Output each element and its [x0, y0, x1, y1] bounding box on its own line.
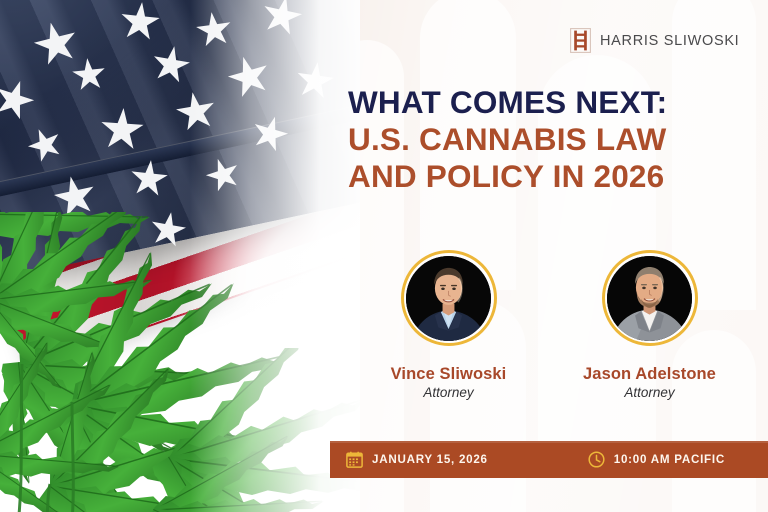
speaker-card-vince-sliwoski: Vince Sliwoski Attorney	[363, 250, 535, 400]
brand-logo: HARRIS SLIWOSKI	[570, 28, 739, 53]
speaker-role: Attorney	[363, 385, 535, 400]
event-date: JANUARY 15, 2026	[346, 451, 488, 468]
calendar-icon	[346, 451, 363, 468]
brand-logo-text: HARRIS SLIWOSKI	[600, 33, 739, 49]
webinar-promo-banner: HARRIS SLIWOSKI WHAT COMES NEXT: U.S. CA…	[0, 0, 768, 512]
avatar	[401, 250, 497, 346]
avatar	[602, 250, 698, 346]
title-line-3: AND POLICY IN 2026	[348, 158, 748, 195]
harris-sliwoski-h-monogram-icon	[570, 28, 591, 53]
event-info-bar: JANUARY 15, 2026 10:00 AM PACIFIC	[330, 441, 768, 478]
event-time: 10:00 AM PACIFIC	[588, 451, 725, 468]
speaker-name: Jason Adelstone	[564, 365, 736, 384]
headshot-vince-sliwoski-icon	[406, 256, 491, 341]
event-date-label: JANUARY 15, 2026	[372, 453, 488, 466]
page-title: WHAT COMES NEXT: U.S. CANNABIS LAW AND P…	[348, 84, 748, 195]
clock-icon	[588, 451, 605, 468]
speaker-role: Attorney	[564, 385, 736, 400]
title-line-1: WHAT COMES NEXT:	[348, 84, 748, 121]
cannabis-leaf-icon	[0, 212, 320, 512]
headshot-jason-adelstone-icon	[607, 256, 692, 341]
title-line-2: U.S. CANNABIS LAW	[348, 121, 748, 158]
speaker-name: Vince Sliwoski	[363, 365, 535, 384]
event-time-label: 10:00 AM PACIFIC	[614, 453, 725, 466]
speaker-list: Vince Sliwoski Attorney	[348, 250, 750, 400]
speaker-card-jason-adelstone: Jason Adelstone Attorney	[564, 250, 736, 400]
usa-flag-icon	[0, 0, 360, 512]
